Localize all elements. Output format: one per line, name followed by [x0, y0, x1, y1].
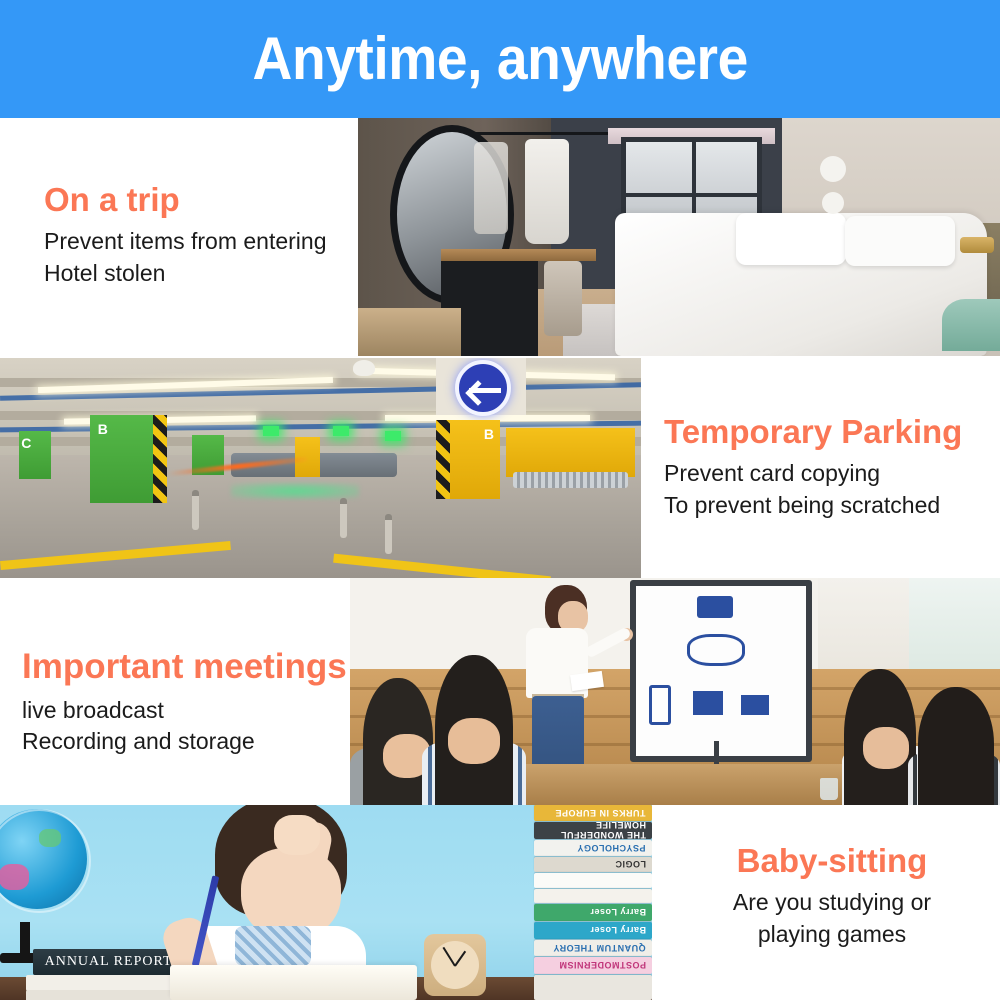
stack-book: QUANTUM THEORY [534, 940, 652, 956]
bollard [340, 498, 347, 538]
green-indicator-light [333, 426, 349, 436]
pillar-letter: C [21, 435, 31, 451]
desk-top [441, 249, 595, 261]
hazard-stripe [436, 420, 450, 499]
whiteboard-laptop2-icon [741, 695, 769, 715]
hazard-stripe [153, 415, 167, 503]
book-stack: TURKS IN EUROPE THE WONDERFUL HOMELIFE P… [534, 805, 652, 1000]
section-important-meetings-text: Important meetings live broadcast Record… [22, 648, 352, 758]
green-pillar: B [90, 415, 167, 503]
wall-sconce [820, 156, 846, 182]
section-line: Hotel stolen [44, 258, 354, 290]
water-glass [820, 778, 838, 800]
section-heading-temporary-parking: Temporary Parking [664, 414, 984, 450]
bedside-lamp [960, 237, 994, 253]
stack-book [534, 889, 652, 903]
section-line: playing games [676, 919, 988, 951]
bollard [192, 490, 199, 530]
pillow [845, 216, 955, 266]
section-line: Are you studying or [676, 887, 988, 919]
attendee-face [448, 718, 500, 764]
section-line: live broadcast [22, 695, 352, 727]
section-heading-on-a-trip: On a trip [44, 182, 354, 218]
whiteboard-server-icon [649, 685, 671, 725]
whiteboard-cloud-icon [687, 634, 745, 666]
annual-report-book: ANNUAL REPORT [33, 949, 183, 975]
meeting-illustration [350, 578, 1000, 805]
yellow-pillar: B [436, 420, 500, 499]
stack-book: PSYCHOLOGY [534, 840, 652, 856]
yellow-pillar [506, 428, 634, 476]
stack-book: LOGIC [534, 857, 652, 872]
girl-bow-tie [235, 926, 311, 966]
hanging-robe [525, 139, 569, 244]
parking-garage-image: C B B [0, 358, 641, 578]
section-temporary-parking-text: Temporary Parking Prevent card copying T… [664, 414, 984, 522]
pillow [736, 213, 846, 265]
white-book [26, 975, 186, 991]
credenza [358, 308, 461, 356]
night-table [942, 299, 1000, 351]
white-book [26, 990, 186, 1000]
hanging-robe-secondary [474, 142, 508, 234]
child-studying-illustration: ANNUAL REPORT TURKS IN EUROPE THE WONDER… [0, 805, 652, 1000]
section-line: To prevent being scratched [664, 490, 984, 522]
stack-book [534, 975, 652, 1000]
stack-book: POSTMODERNISM [534, 957, 652, 974]
left-arrow-sign [455, 360, 511, 416]
section-on-a-trip-text: On a trip Prevent items from entering Ho… [44, 182, 354, 290]
annual-report-title: ANNUAL REPORT [45, 954, 173, 970]
green-indicator-light [263, 426, 279, 436]
hotel-room-illustration [358, 118, 1000, 356]
meeting-room-image [350, 578, 1000, 805]
stack-book [534, 873, 652, 888]
stack-book: THE WONDERFUL HOMELIFE [534, 822, 652, 839]
shopping-carts [513, 472, 628, 488]
bollard [385, 514, 392, 554]
section-heading-important-meetings: Important meetings [22, 648, 352, 687]
globe-stand [20, 922, 30, 956]
pillar-letter: B [484, 426, 494, 442]
globe-ring [0, 809, 91, 913]
stack-book: Barry Loser [534, 904, 652, 921]
section-baby-sitting-text: Baby-sitting Are you studying or playing… [676, 843, 988, 951]
section-heading-baby-sitting: Baby-sitting [676, 843, 988, 879]
whiteboard-desktop-icon [693, 691, 723, 715]
stack-book: Barry Loser [534, 922, 652, 939]
girl-hand [274, 815, 320, 855]
green-pillar: C [19, 431, 51, 479]
whiteboard [630, 580, 812, 762]
promo-page: Anytime, anywhere [0, 0, 1000, 1000]
stack-book: TURKS IN EUROPE [534, 805, 652, 821]
attendee-face [863, 727, 909, 769]
green-indicator-light [385, 431, 401, 441]
section-line: Prevent items from entering [44, 226, 354, 258]
open-notebook [170, 965, 418, 1000]
parking-garage-illustration: C B B [0, 358, 641, 578]
header-banner: Anytime, anywhere [0, 0, 1000, 118]
whiteboard-laptop-icon [697, 596, 733, 618]
page-title: Anytime, anywhere [252, 29, 747, 89]
hotel-room-image [358, 118, 1000, 356]
section-line: Prevent card copying [664, 458, 984, 490]
security-camera [353, 360, 375, 376]
green-light-reflection [231, 483, 359, 499]
pillar-letter: B [98, 421, 108, 437]
wooden-clock [424, 934, 486, 996]
child-studying-image: ANNUAL REPORT TURKS IN EUROPE THE WONDER… [0, 805, 652, 1000]
desk-chair [544, 261, 582, 336]
section-line: Recording and storage [22, 726, 352, 758]
attendee-head [918, 687, 994, 805]
